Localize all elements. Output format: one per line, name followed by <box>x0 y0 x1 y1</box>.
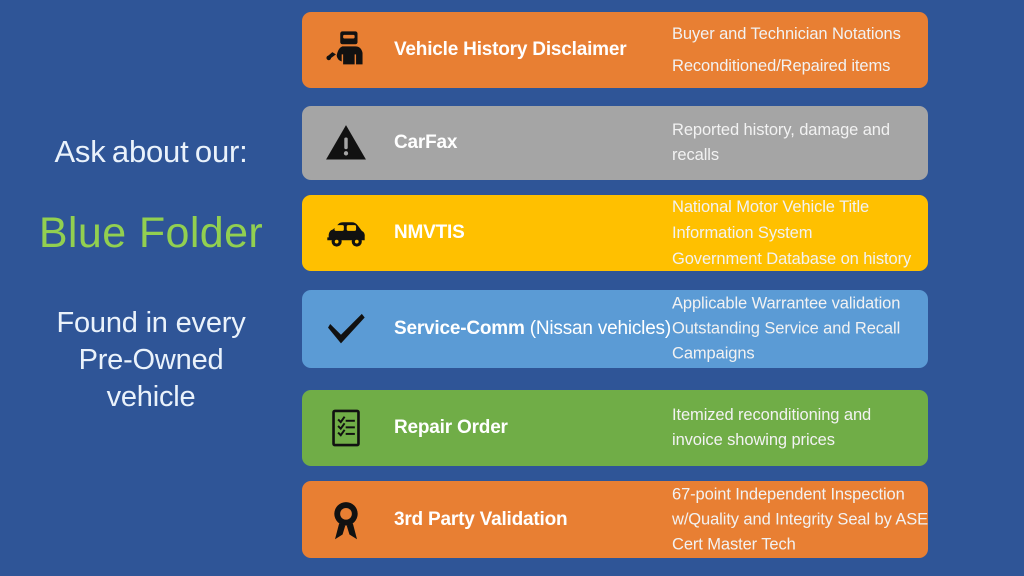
row-title-main: Service-Comm <box>394 318 525 339</box>
desc-line: Reconditioned/Repaired items <box>672 50 922 82</box>
row-service-comm[interactable]: Service-Comm (Nissan vehicles) Applicabl… <box>302 290 928 368</box>
left-text-panel: Ask about our: Blue Folder Found in ever… <box>0 0 302 576</box>
desc-line: Government Database on history <box>672 246 922 272</box>
blue-folder-highlight: Blue Folder <box>0 205 302 261</box>
desc-line: National Motor Vehicle Title <box>672 194 922 220</box>
checkmark-icon <box>320 303 372 355</box>
desc-line: 67-point Independent Inspection <box>672 482 922 507</box>
car-icon <box>320 207 372 259</box>
row-3rd-party-validation[interactable]: 3rd Party Validation 67-point Independen… <box>302 481 928 558</box>
clipboard-checklist-icon <box>320 402 372 454</box>
desc-line: Information System <box>672 220 922 246</box>
row-title: 3rd Party Validation <box>394 509 567 531</box>
found-line-2: Pre-Owned <box>0 342 302 379</box>
row-carfax[interactable]: CarFax Reported history, damage and reca… <box>302 106 928 180</box>
row-title-main: NMVTIS <box>394 222 465 243</box>
row-title: Repair Order <box>394 417 508 439</box>
row-title: CarFax <box>394 132 457 154</box>
row-title: Service-Comm (Nissan vehicles) <box>394 318 671 340</box>
ask-about-our-heading: Ask about our: <box>0 132 302 172</box>
found-line-1: Found in every <box>0 305 302 342</box>
desc-line: Applicable Warrantee validation <box>672 292 922 317</box>
desc-line: invoice showing prices <box>672 428 922 453</box>
desc-line: Itemized reconditioning and <box>672 403 922 428</box>
desc-line: Outstanding Service and Recall <box>672 317 922 342</box>
desc-line: Cert Master Tech <box>672 532 922 557</box>
row-title: Vehicle History Disclaimer <box>394 39 626 61</box>
welder-icon <box>320 24 372 76</box>
row-description: Itemized reconditioning and invoice show… <box>672 403 922 453</box>
found-line-3: vehicle <box>0 379 302 416</box>
row-title-suffix: (Nissan vehicles) <box>525 318 671 339</box>
slide-canvas: Ask about our: Blue Folder Found in ever… <box>0 0 1024 576</box>
desc-line: Campaigns <box>672 342 922 367</box>
row-description: National Motor Vehicle Title Information… <box>672 194 922 272</box>
row-description: 67-point Independent Inspection w/Qualit… <box>672 482 922 557</box>
row-title-main: Vehicle History Disclaimer <box>394 39 626 60</box>
found-in-every-text: Found in every Pre-Owned vehicle <box>0 305 302 416</box>
desc-line: w/Quality and Integrity Seal by ASE <box>672 507 922 532</box>
award-ribbon-icon <box>320 494 372 546</box>
row-description: Buyer and Technician Notations Reconditi… <box>672 18 922 82</box>
row-title-main: CarFax <box>394 132 457 153</box>
desc-line: recalls <box>672 143 922 168</box>
row-title: NMVTIS <box>394 222 465 244</box>
row-description: Applicable Warrantee validation Outstand… <box>672 292 922 367</box>
desc-line: Reported history, damage and <box>672 118 922 143</box>
document-rows-list: Vehicle History Disclaimer Buyer and Tec… <box>302 0 928 576</box>
row-nmvtis[interactable]: NMVTIS National Motor Vehicle Title Info… <box>302 195 928 271</box>
row-title-main: Repair Order <box>394 417 508 438</box>
row-title-main: 3rd Party Validation <box>394 509 567 530</box>
row-repair-order[interactable]: Repair Order Itemized reconditioning and… <box>302 390 928 466</box>
desc-line: Buyer and Technician Notations <box>672 18 922 50</box>
row-vehicle-history-disclaimer[interactable]: Vehicle History Disclaimer Buyer and Tec… <box>302 12 928 88</box>
warning-triangle-icon <box>320 117 372 169</box>
row-description: Reported history, damage and recalls <box>672 118 922 168</box>
